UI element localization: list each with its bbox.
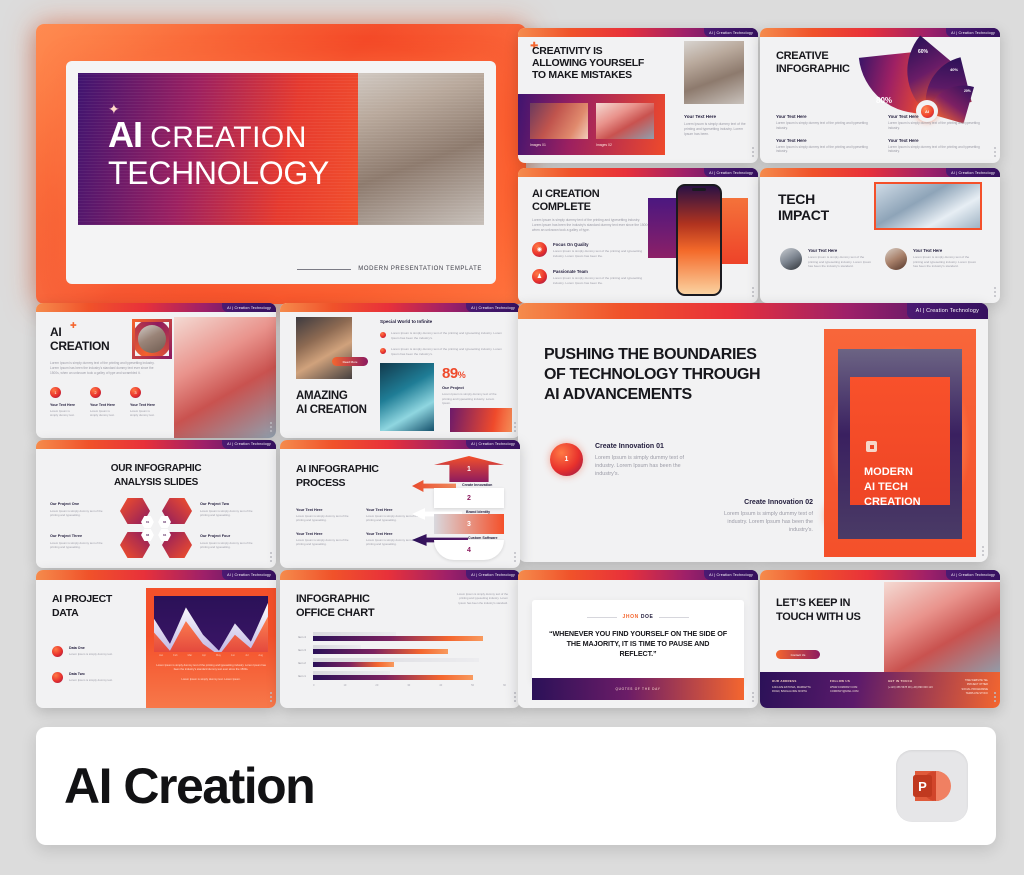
- slide-ai-project-data[interactable]: AI | Creation Technology AI PROJECT DATA…: [36, 570, 276, 708]
- info-item: Your Text Here Lorem Ipsum is simply dum…: [776, 114, 874, 131]
- x-tick: Feb: [173, 654, 177, 657]
- quote-card: JHON DOE “WHENEVER YOU FIND YOURSELF ON …: [532, 600, 744, 682]
- item-heading: Your Text Here: [130, 403, 158, 407]
- divider: [659, 617, 689, 618]
- hero-inner-frame: ✦ AI CREATION TECHNOLOGY MODERN PRESENTA…: [66, 61, 496, 284]
- slide-title: CREATIVITY IS ALLOWING YOURSELF TO MAKE …: [532, 46, 652, 82]
- hero-caption-text: MODERN PRESENTATION TEMPLATE: [358, 266, 482, 272]
- item-heading: Your Text Here: [90, 403, 118, 407]
- slide-pushing-boundaries[interactable]: AI | Creation Technology PUSHING THE BOU…: [518, 303, 988, 562]
- bar-row: Item 3: [298, 645, 506, 654]
- bullet-row: Lorem Ipsum is simply dummy text of the …: [380, 331, 506, 340]
- legend-body: Lorem Ipsum is simply dummy text.: [69, 652, 113, 656]
- slide-badge: AI | Creation Technology: [946, 168, 1000, 177]
- process-cell: Your Text Here Lorem Ipsum is simply dum…: [296, 532, 354, 547]
- process-cell: Your Text Here Lorem Ipsum is simply dum…: [296, 508, 354, 523]
- stat-body: Lorem Ipsum is simply dummy text of the …: [442, 392, 500, 406]
- footer-column-follow: FOLLOW US WWW.COMPANY.COM COMPANY@MAIL.C…: [830, 679, 876, 701]
- bar-label: Item 2: [298, 661, 313, 665]
- x-tick: 0: [313, 684, 314, 687]
- process-text-grid: Your Text Here Lorem Ipsum is simply dum…: [296, 508, 424, 546]
- page-dots[interactable]: [752, 287, 754, 297]
- bar-series-b: [313, 662, 394, 667]
- cell-heading: Our Project Four: [200, 534, 262, 538]
- page-dots[interactable]: [752, 692, 754, 702]
- slide-title-line2: PROCESS: [296, 476, 379, 490]
- avatar: [780, 248, 802, 270]
- fan-label-60: 60%: [918, 49, 928, 55]
- bar-track: [313, 671, 506, 680]
- item-number: 2: [90, 387, 101, 398]
- quote-author-row: JHON DOE: [548, 614, 728, 620]
- caption-line-2: Lorem Ipsum is simply dummy text. Lorem …: [154, 678, 268, 682]
- legend-row: Data One Lorem Ipsum is simply dummy tex…: [52, 646, 130, 657]
- slide-infographic-analysis[interactable]: AI | Creation Technology OUR INFOGRAPHIC…: [36, 440, 276, 568]
- process-step-2: 2: [434, 488, 504, 508]
- side-heading: Your Text Here: [684, 114, 746, 119]
- slide-title: AMAZING AI CREATION: [296, 389, 367, 417]
- bullet-row: Lorem Ipsum is simply dummy text of the …: [380, 347, 506, 356]
- page-dots[interactable]: [994, 287, 996, 297]
- slide-badge: AI | Creation Technology: [466, 570, 520, 580]
- item-body: Lorem Ipsum is simply dummy text.: [90, 409, 118, 418]
- page-dots[interactable]: [514, 422, 516, 432]
- info-item-heading: Your Text Here: [888, 114, 986, 119]
- slide-photo: [296, 317, 352, 379]
- process-arrow-diagram: 1 Create Innovation 2 Brand Identity 3 C…: [412, 456, 512, 560]
- slide-title-line1: AI INFOGRAPHIC: [296, 462, 379, 476]
- circular-portrait-frame: [132, 319, 172, 359]
- art-label: MODERN AI TECH CREATION: [864, 465, 921, 510]
- slide-photo: [874, 182, 982, 230]
- bar-label: Item 1: [298, 674, 313, 678]
- profile-column: Your Text Here Lorem Ipsum is simply dum…: [885, 248, 980, 270]
- cell-body: Lorem Ipsum is simply dummy text of the …: [200, 509, 262, 518]
- cell-body: Lorem Ipsum is simply dummy text of the …: [200, 541, 262, 550]
- thumbnail-1: [530, 103, 588, 139]
- author-first-name: JHON: [623, 614, 639, 620]
- column-title: OUR ADDRESS: [772, 679, 818, 683]
- feature-item: 1 Your Text Here Lorem Ipsum is simply d…: [50, 387, 78, 418]
- feature-body: Lorem Ipsum is simply dummy text of the …: [553, 276, 654, 285]
- analysis-cell: Our Project Three Lorem Ipsum is simply …: [50, 534, 112, 550]
- side-body: Lorem Ipsum is simply dummy text of the …: [684, 122, 746, 137]
- quote-text: “WHENEVER YOU FIND YOURSELF ON THE SIDE …: [548, 629, 728, 660]
- bar-chart: Item 4 Item 3 Item 2: [298, 632, 506, 694]
- square-badge-icon: [866, 441, 877, 452]
- feature-row: ♟ Passionate Team Lorem Ipsum is simply …: [532, 269, 654, 285]
- slide-title: OUR INFOGRAPHIC ANALYSIS SLIDES: [36, 462, 276, 490]
- slide-title: LET’S KEEP IN TOUCH WITH US: [776, 596, 871, 625]
- slide-infographic-process[interactable]: AI | Creation Technology AI INFOGRAPHIC …: [280, 440, 520, 568]
- cell-heading: Our Project One: [50, 502, 112, 506]
- x-tick: 40: [439, 684, 442, 687]
- column-value[interactable]: WWW.COMPANY.COM COMPANY@MAIL.COM: [830, 686, 876, 694]
- x-tick: Apr: [202, 654, 206, 657]
- x-tick: Jun: [231, 654, 235, 657]
- circular-portrait: [138, 325, 166, 353]
- info-item-body: Lorem Ipsum is simply dummy text of the …: [776, 121, 874, 131]
- info-item-body: Lorem Ipsum is simply dummy text of the …: [888, 145, 986, 155]
- stat-unit: %: [458, 370, 466, 380]
- quote-author: JHON DOE: [623, 614, 654, 620]
- info-item-heading: Your Text Here: [888, 138, 986, 143]
- bullet-text: Lorem Ipsum is simply dummy text of the …: [391, 331, 506, 340]
- profile-column: Your Text Here Lorem Ipsum is simply dum…: [780, 248, 875, 270]
- feature-item: 2 Your Text Here Lorem Ipsum is simply d…: [90, 387, 118, 418]
- image-band: Images 01 Images 02: [518, 94, 665, 155]
- slide-title: INFOGRAPHIC OFFICE CHART: [296, 592, 374, 621]
- slide-title-line2: OFFICE CHART: [296, 606, 374, 620]
- x-tick: 20: [375, 684, 378, 687]
- column-title: FOLLOW US: [830, 679, 876, 683]
- cell-heading: Your Text Here: [296, 508, 354, 512]
- legend-swatch: [52, 646, 63, 657]
- analysis-cell: Our Project Two Lorem Ipsum is simply du…: [200, 502, 262, 518]
- sparkle-icon: ✦: [108, 101, 120, 118]
- column-value: 1234 AVE ESTONIA, MARKETTA ROAD, BANGALO…: [772, 686, 818, 694]
- bar-series-b: [313, 675, 473, 680]
- page-dots[interactable]: [270, 422, 272, 432]
- slide-lead-text: Lorem Ipsum is simply dummy text of the …: [50, 361, 160, 375]
- contact-footer: OUR ADDRESS 1234 AVE ESTONIA, MARKETTA R…: [760, 672, 1000, 708]
- slide-title-line1: OUR INFOGRAPHIC: [36, 462, 276, 476]
- slide-badge: AI | Creation Technology: [946, 28, 1000, 37]
- phone-mockup: [676, 184, 722, 296]
- item-heading: Your Text Here: [50, 403, 78, 407]
- bar-series-b: [313, 636, 483, 641]
- cell-heading: Our Project Three: [50, 534, 112, 538]
- column-body: Lorem Ipsum is simply dummy text of the …: [808, 255, 875, 269]
- bullet-heading: Special World to Infinite: [380, 319, 506, 324]
- slide-amazing-ai-creation[interactable]: AI | Creation Technology Read More AMAZI…: [280, 303, 520, 438]
- column-title: GET IN TOUCH: [888, 679, 934, 683]
- slide-title-line1: AI PROJECT: [52, 592, 112, 606]
- stat-caption: Our Project Lorem Ipsum is simply dummy …: [442, 385, 500, 406]
- thumbnail-2-caption: Images 02: [596, 143, 612, 147]
- target-icon: ◉: [532, 242, 547, 257]
- slide-badge: AI | Creation Technology: [704, 168, 758, 177]
- contact-button[interactable]: Contact Us: [776, 650, 820, 659]
- page-dots[interactable]: [270, 692, 272, 702]
- avatar: [885, 248, 907, 270]
- cell-heading: Your Text Here: [296, 532, 354, 536]
- item-body: Lorem Ipsum is simply dummy text.: [50, 409, 78, 418]
- legend-swatch: [52, 672, 63, 683]
- slide-title: CREATIVE INFOGRAPHIC: [776, 50, 866, 75]
- slide-title: TECH IMPACT: [778, 192, 829, 224]
- slide-tech-impact[interactable]: AI | Creation Technology TECH IMPACT You…: [760, 168, 1000, 303]
- caption-rule: [297, 269, 351, 270]
- bar-track: [313, 658, 506, 667]
- secondary-photo: [380, 363, 434, 431]
- column-body: Lorem Ipsum is simply dummy text of the …: [913, 255, 980, 269]
- column-heading: Your Text Here: [808, 248, 875, 253]
- slide-title: PUSHING THE BOUNDARIES OF TECHNOLOGY THR…: [544, 345, 774, 405]
- slide-title-line2: AI CREATION: [296, 403, 367, 417]
- divider: [587, 617, 617, 618]
- modern-ai-tech-art: MODERN AI TECH CREATION: [824, 329, 976, 557]
- info-item-heading: Your Text Here: [776, 114, 874, 119]
- fan-label-40: 40%: [950, 67, 958, 72]
- item-number: 3: [130, 387, 141, 398]
- legend-label: Data One: [69, 646, 113, 650]
- hero-title-line2: TECHNOLOGY: [108, 155, 329, 192]
- slide-quote[interactable]: AI | Creation Technology JHON DOE “WHENE…: [518, 570, 758, 708]
- innovation-step-1: 1 Create Innovation 01 Lorem Ipsum is si…: [550, 443, 700, 478]
- x-tick: 50: [471, 684, 474, 687]
- slide-title-line1: TECH: [778, 192, 829, 208]
- feature-heading: Passionate Team: [553, 269, 654, 274]
- analysis-cell: Our Project Four Lorem Ipsum is simply d…: [200, 534, 262, 550]
- feature-items: 1 Your Text Here Lorem Ipsum is simply d…: [50, 387, 158, 418]
- powerpoint-icon[interactable]: P: [896, 750, 968, 822]
- legend-row: Data Two Lorem Ipsum is simply dummy tex…: [52, 672, 130, 683]
- bar-series-b: [313, 649, 448, 654]
- slide-badge: AI | Creation Technology: [222, 440, 276, 449]
- area-chart: [154, 596, 268, 652]
- footer-meta: TIME WEBSITE TEL PROJECT OTHER SOCIAL PR…: [962, 679, 988, 701]
- x-tick: Jan: [159, 654, 163, 657]
- slide-title-line1: AMAZING: [296, 389, 367, 403]
- page-dots[interactable]: [514, 552, 516, 562]
- x-tick: 30: [407, 684, 410, 687]
- page-dots[interactable]: [994, 147, 996, 157]
- stat-percent: 89%: [442, 365, 465, 382]
- slide-title: AI CREATION: [50, 325, 109, 354]
- feature-heading: Focus On Quality: [553, 242, 654, 247]
- slide-photo: [174, 317, 276, 438]
- bullet-block: Special World to Infinite Lorem Ipsum is…: [380, 319, 506, 357]
- quote-banner-text: QUOTES OF THE DAY: [615, 687, 660, 691]
- item-number: 1: [50, 387, 61, 398]
- bar-track: [313, 645, 506, 654]
- process-step-1: 1: [434, 456, 504, 482]
- hexagon-cluster: 01 02 03 04: [120, 498, 192, 558]
- x-tick: 60: [503, 684, 506, 687]
- slide-badge: AI | Creation Technology: [946, 570, 1000, 580]
- side-text-block: Your Text Here Lorem Ipsum is simply dum…: [684, 114, 746, 137]
- template-preview-board: ✦ AI CREATION TECHNOLOGY MODERN PRESENTA…: [0, 0, 1024, 875]
- bar-track: [313, 632, 506, 641]
- slide-title-line2: DATA: [52, 606, 112, 620]
- page-dots[interactable]: [514, 692, 516, 702]
- legend-body: Lorem Ipsum is simply dummy text.: [69, 678, 113, 682]
- slide-title-line2: ANALYSIS SLIDES: [36, 476, 276, 490]
- read-more-button[interactable]: Read More: [332, 357, 368, 366]
- slide-creativity[interactable]: AI | Creation Technology ✚ CREATIVITY IS…: [518, 28, 758, 163]
- phone-notch: [692, 188, 706, 191]
- product-title: AI Creation: [64, 757, 314, 815]
- slide-contact[interactable]: AI | Creation Technology LET’S KEEP IN T…: [760, 570, 1000, 708]
- item-body: Lorem Ipsum is simply dummy text.: [130, 409, 158, 418]
- bullet-icon: [380, 348, 386, 354]
- hero-banner: ✦ AI CREATION TECHNOLOGY: [78, 73, 484, 225]
- slide-title-line2: IMPACT: [778, 208, 829, 224]
- process-step-4: 4: [434, 540, 504, 560]
- info-item: Your Text Here Lorem Ipsum is simply dum…: [888, 138, 986, 155]
- fan-chart: 80% 60% 40% 20% AI: [872, 41, 982, 113]
- x-tick: 10: [343, 684, 346, 687]
- info-item-heading: Your Text Here: [776, 138, 874, 143]
- x-tick: Mar: [188, 654, 192, 657]
- stat-value: 89: [442, 365, 458, 382]
- fan-label-80: 80%: [876, 96, 892, 105]
- x-tick: May: [216, 654, 221, 657]
- page-dots[interactable]: [982, 546, 984, 556]
- bar-label: Item 4: [298, 635, 313, 639]
- quote-banner: QUOTES OF THE DAY: [532, 678, 744, 700]
- powerpoint-glyph: P: [909, 763, 955, 809]
- info-item-body: Lorem Ipsum is simply dummy text of the …: [888, 121, 986, 131]
- step-body: Lorem Ipsum is simply dummy text of indu…: [708, 510, 813, 534]
- bullet-text: Lorem Ipsum is simply dummy text of the …: [391, 347, 506, 356]
- info-item: Your Text Here Lorem Ipsum is simply dum…: [888, 114, 986, 131]
- page-dots[interactable]: [752, 147, 754, 157]
- decorative-gradient-block: [450, 408, 512, 432]
- step-number: 1: [550, 443, 583, 476]
- product-banner: AI Creation P: [36, 727, 996, 845]
- column-value: (+123) 456 5678 00 (+00) 890 000 123: [888, 686, 934, 690]
- bar-label: Item 3: [298, 648, 313, 652]
- cell-body: Lorem Ipsum is simply dummy text of the …: [50, 509, 112, 518]
- column-heading: Your Text Here: [913, 248, 980, 253]
- step-heading: Create Innovation 01: [595, 443, 700, 450]
- footer-column-address: OUR ADDRESS 1234 AVE ESTONIA, MARKETTA R…: [772, 679, 818, 701]
- info-item: Your Text Here Lorem Ipsum is simply dum…: [776, 138, 874, 155]
- footer-column-phone: GET IN TOUCH (+123) 456 5678 00 (+00) 89…: [888, 679, 934, 701]
- chart-x-axis: Jan Feb Mar Apr May Jun Jul Aug: [154, 654, 268, 657]
- hero-photo: [358, 73, 484, 225]
- author-last-name: DOE: [641, 614, 654, 620]
- hero-title-block: AI CREATION TECHNOLOGY: [108, 117, 329, 192]
- hero-slide[interactable]: ✦ AI CREATION TECHNOLOGY MODERN PRESENTA…: [36, 24, 526, 304]
- fan-label-20: 20%: [964, 89, 971, 93]
- slide-ai-creation-complete[interactable]: AI | Creation Technology AI CREATION COM…: [518, 168, 758, 303]
- slide-badge: AI | Creation Technology: [222, 570, 276, 580]
- feature-body: Lorem Ipsum is simply dummy text of the …: [553, 249, 654, 258]
- panel-caption: Lorem Ipsum is simply dummy text of the …: [154, 664, 268, 682]
- x-tick: Aug: [258, 654, 263, 657]
- cell-body: Lorem Ipsum is simply dummy text of the …: [50, 541, 112, 550]
- analysis-cell: Our Project One Lorem Ipsum is simply du…: [50, 502, 112, 518]
- page-dots[interactable]: [270, 552, 272, 562]
- slide-office-chart[interactable]: AI | Creation Technology INFOGRAPHIC OFF…: [280, 570, 520, 708]
- slide-ai-creation[interactable]: AI | Creation Technology ✚ AI CREATION L…: [36, 303, 276, 438]
- slide-badge: AI | Creation Technology: [704, 28, 758, 37]
- slide-title: AI PROJECT DATA: [52, 592, 112, 620]
- feature-item: 3 Your Text Here Lorem Ipsum is simply d…: [130, 387, 158, 418]
- x-tick: Jul: [245, 654, 248, 657]
- slide-badge: AI | Creation Technology: [222, 303, 276, 312]
- slide-badge: AI | Creation Technology: [704, 570, 758, 580]
- thumbnail-2: [596, 103, 654, 139]
- chart-x-axis: 0 10 20 30 40 50 60: [313, 684, 506, 687]
- slide-lead-text: Lorem Ipsum is simply dummy text of the …: [532, 218, 650, 233]
- slide-title: AI CREATION COMPLETE: [532, 188, 642, 213]
- process-step-3: 3: [434, 514, 504, 534]
- process-label-1: Create Innovation: [462, 483, 492, 487]
- slide-photo: [884, 582, 1000, 676]
- slide-title: AI INFOGRAPHIC PROCESS: [296, 462, 379, 490]
- phone-mockup-art: [648, 184, 748, 296]
- meta-line: TEMPLATE STOCK: [962, 692, 988, 696]
- page-dots[interactable]: [994, 692, 996, 702]
- slide-title-line1: INFOGRAPHIC: [296, 592, 374, 606]
- slide-title-line1: AI: [50, 325, 109, 339]
- hero-title-rest: CREATION: [150, 121, 307, 154]
- slide-title-line2: CREATION: [50, 339, 109, 353]
- feature-row: ◉ Focus On Quality Lorem Ipsum is simply…: [532, 242, 654, 258]
- slide-note: Lorem Ipsum is simply dummy text of the …: [452, 592, 508, 605]
- bar-row: Item 1: [298, 671, 506, 680]
- infographic-text-grid: Your Text Here Lorem Ipsum is simply dum…: [776, 114, 986, 154]
- info-item-body: Lorem Ipsum is simply dummy text of the …: [776, 145, 874, 155]
- slide-photo: [684, 41, 744, 104]
- cell-body: Lorem Ipsum is simply dummy text of the …: [296, 538, 354, 547]
- cell-body: Lorem Ipsum is simply dummy text of the …: [296, 514, 354, 523]
- stat-heading: Our Project: [442, 385, 500, 390]
- bullet-icon: [380, 332, 386, 338]
- caption-line-1: Lorem Ipsum is simply dummy text of the …: [154, 664, 268, 673]
- cell-heading: Our Project Two: [200, 502, 262, 506]
- thumbnail-1-caption: Images 01: [530, 143, 546, 147]
- step-body: Lorem Ipsum is simply dummy text of indu…: [595, 454, 700, 478]
- bar-row: Item 2: [298, 658, 506, 667]
- slide-badge: AI | Creation Technology: [466, 303, 520, 312]
- slide-badge: AI | Creation Technology: [466, 440, 520, 449]
- step-heading: Create Innovation 02: [708, 499, 813, 506]
- hero-title-strong: AI: [108, 114, 142, 155]
- team-icon: ♟: [532, 269, 547, 284]
- data-panel: ✚ Jan Feb M: [146, 588, 276, 708]
- area-chart-svg: [154, 596, 268, 652]
- slide-creative-infographic[interactable]: AI | Creation Technology CREATIVE INFOGR…: [760, 28, 1000, 163]
- hero-caption: MODERN PRESENTATION TEMPLATE: [297, 266, 482, 272]
- legend-label: Data Two: [69, 672, 113, 676]
- slide-badge: AI | Creation Technology: [907, 303, 988, 319]
- svg-text:P: P: [918, 779, 927, 794]
- bar-row: Item 4: [298, 632, 506, 641]
